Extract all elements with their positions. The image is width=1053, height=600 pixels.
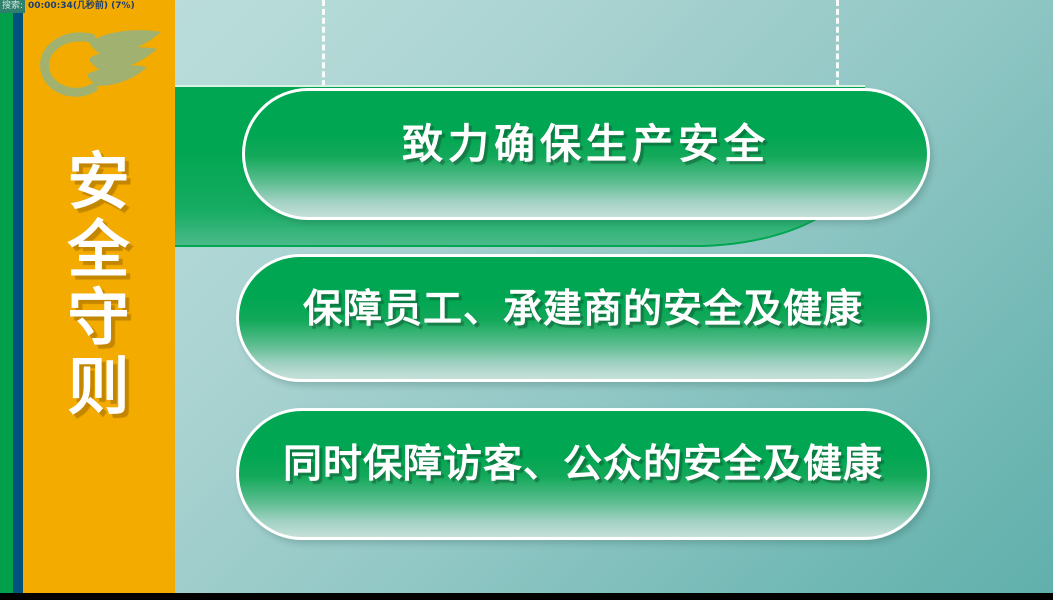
page-title-char-4: 则	[23, 353, 175, 421]
pill-item-1-label: 致力确保生产安全	[402, 110, 770, 170]
pill-item-2-label: 保障员工、承建商的安全及健康	[303, 278, 863, 334]
pill-item-1: 致力确保生产安全	[242, 88, 930, 220]
capture-status-label: 搜索:	[0, 0, 25, 13]
rail-green	[0, 0, 13, 593]
pill-item-3-label: 同时保障访客、公众的安全及健康	[283, 433, 883, 489]
page-title-char-1: 安	[23, 148, 175, 216]
pill-list: 致力确保生产安全 保障员工、承建商的安全及健康 同时保障访客、公众的安全及健康	[236, 0, 936, 593]
pill-item-2: 保障员工、承建商的安全及健康	[236, 254, 930, 382]
pill-item-3: 同时保障访客、公众的安全及健康	[236, 408, 930, 540]
rail-blue	[13, 0, 23, 593]
capture-status-time: 00:00:34(几秒前) (7%)	[25, 0, 135, 13]
page-title-char-2: 全	[23, 216, 175, 284]
yigao-wing-logo-watermark-icon	[29, 22, 171, 100]
page-title-char-3: 守	[23, 284, 175, 352]
page-title: 安 全 守 则	[23, 148, 175, 421]
sidebar-panel: 安 全 守 则	[23, 0, 175, 593]
presentation-slide: 安 全 守 则 致力确保生产安全 保障员工、承建商的安全及健康 同时保障访客、公…	[0, 0, 1053, 593]
bottom-letterbox-bar	[0, 593, 1053, 600]
screen-capture: 安 全 守 则 致力确保生产安全 保障员工、承建商的安全及健康 同时保障访客、公…	[0, 0, 1053, 600]
brand-logo: 易高	[890, 22, 1040, 80]
capture-status-overlay: 搜索: 00:00:34(几秒前) (7%)	[0, 0, 135, 13]
